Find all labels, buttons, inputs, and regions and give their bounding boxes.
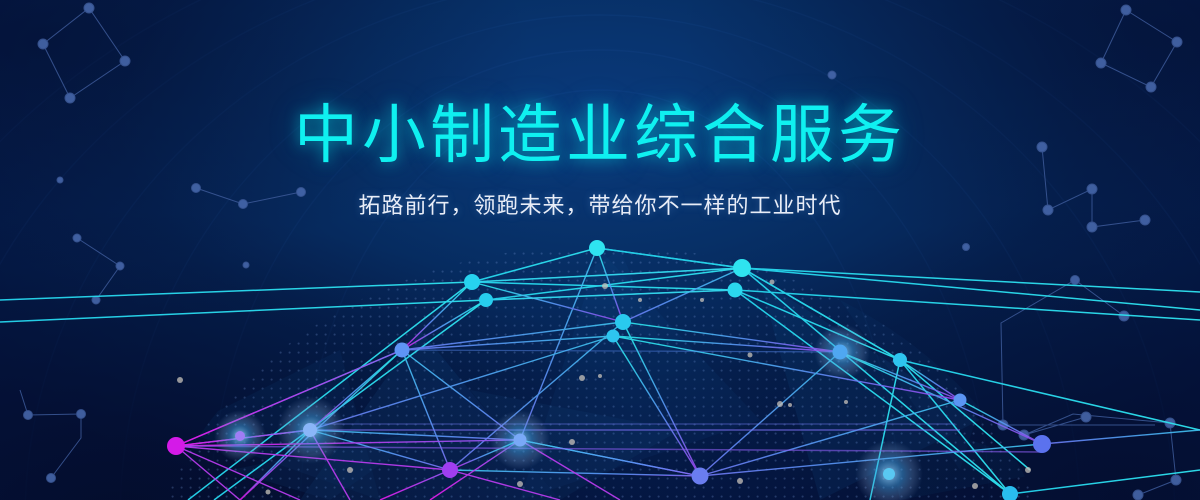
hero-banner: 中小制造业综合服务 拓路前行，领跑未来，带给你不一样的工业时代: [0, 0, 1200, 500]
wireframe-dome: [0, 0, 1200, 500]
